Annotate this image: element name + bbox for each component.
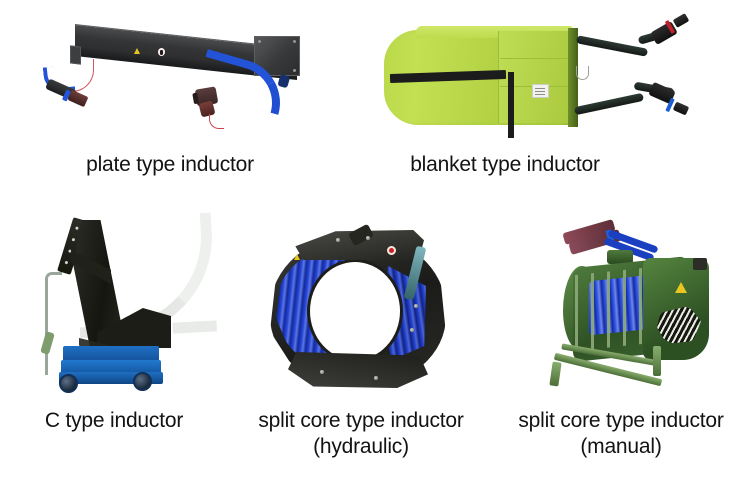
- no-entry-badge-icon: [387, 246, 396, 255]
- caption-split-core-hydraulic-subtext: (hydraulic): [232, 434, 490, 460]
- blanket-spec-label: [532, 84, 549, 98]
- blanket-vertical-strap: [508, 72, 514, 138]
- plate-type-inductor-illustration: [30, 26, 330, 126]
- c-type-handle: [45, 272, 62, 375]
- c-type-caster-wheel: [133, 372, 152, 391]
- plate-left-endcap: [70, 45, 81, 64]
- blanket-lower-cable-tip: [673, 102, 689, 116]
- warning-triangle-icon: [675, 282, 687, 293]
- manual-stand-leg: [549, 361, 561, 386]
- split-core-bolt: [366, 236, 370, 240]
- c-type-caster-wheel: [59, 374, 78, 393]
- product-grid-image: plate type inductor blan: [0, 0, 750, 484]
- split-core-manual-illustration: [545, 226, 725, 398]
- blanket-upper-connector: [650, 21, 678, 45]
- split-core-hydraulic-illustration: [262, 228, 462, 398]
- blanket-hook-icon: [576, 66, 589, 80]
- split-core-bolt: [320, 370, 324, 374]
- manual-stand-leg: [653, 346, 661, 376]
- plate-left-connector-secondary: [68, 90, 89, 107]
- c-type-inductor-illustration: [35, 212, 205, 390]
- split-core-bolt: [374, 376, 378, 380]
- split-core-bolt: [414, 304, 418, 308]
- warning-triangle-icon: [294, 254, 300, 260]
- caption-split-core-manual-subtext: (manual): [492, 434, 750, 460]
- caption-plate-type-inductor-text: plate type inductor: [86, 153, 254, 176]
- caption-blanket-type-inductor-text: blanket type inductor: [410, 153, 600, 176]
- split-core-bottom-frame: [288, 352, 428, 388]
- caption-c-type-inductor-text: C type inductor: [45, 409, 183, 432]
- manual-stand: [549, 344, 677, 396]
- blanket-type-inductor-illustration: [380, 14, 690, 136]
- split-core-bolt: [410, 328, 414, 332]
- caption-blanket-type-inductor: blanket type inductor: [370, 152, 640, 178]
- manual-lifting-hook: [693, 258, 707, 270]
- warning-triangle-icon: [134, 48, 140, 54]
- caption-split-core-manual-text: split core type inductor: [518, 409, 723, 432]
- caption-plate-type-inductor: plate type inductor: [0, 152, 340, 178]
- caption-split-core-manual: split core type inductor (manual): [492, 408, 750, 460]
- blanket-upper-cable: [576, 35, 648, 57]
- no-entry-badge-icon: [158, 48, 165, 56]
- blanket-seam: [500, 58, 572, 59]
- caption-c-type-inductor: C type inductor: [0, 408, 228, 434]
- split-core-bore: [310, 262, 400, 360]
- caption-split-core-hydraulic-text: split core type inductor: [258, 409, 463, 432]
- blanket-upper-cable-tip: [673, 13, 690, 28]
- split-core-bolt: [336, 238, 340, 242]
- caption-split-core-hydraulic: split core type inductor (hydraulic): [232, 408, 490, 460]
- plate-right-red-wire: [209, 114, 224, 129]
- blanket-lower-cable: [574, 93, 644, 115]
